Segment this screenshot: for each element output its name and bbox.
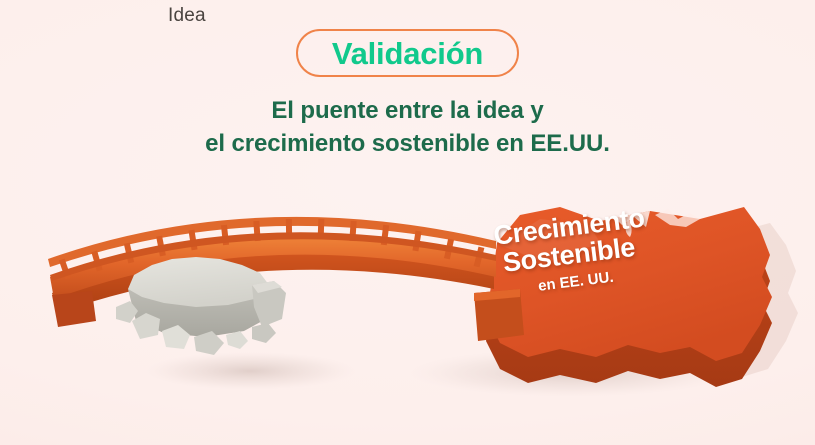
- page-subtitle: El puente entre la idea y el crecimiento…: [0, 94, 815, 160]
- bridge-group: [48, 217, 524, 341]
- illustration-scene: Idea: [0, 185, 815, 445]
- bridge-and-map-illustration: [0, 185, 815, 445]
- poster-canvas: Validación El puente entre la idea y el …: [0, 0, 815, 445]
- loose-rock-5: [252, 323, 276, 343]
- validation-badge[interactable]: Validación: [296, 29, 519, 77]
- subtitle-line-1: El puente entre la idea y: [0, 94, 815, 127]
- bridge-pier-left: [52, 291, 96, 327]
- badge-container: Validación: [0, 29, 815, 77]
- subtitle-line-2: el crecimiento sostenible en EE.UU.: [0, 127, 815, 160]
- idea-label: Idea: [168, 5, 206, 27]
- rock-ground-shadow: [145, 352, 355, 390]
- us-map-group: [486, 207, 798, 387]
- idea-rock-group: [116, 257, 286, 355]
- validation-badge-label: Validación: [332, 38, 483, 69]
- loose-rock-4: [226, 331, 248, 349]
